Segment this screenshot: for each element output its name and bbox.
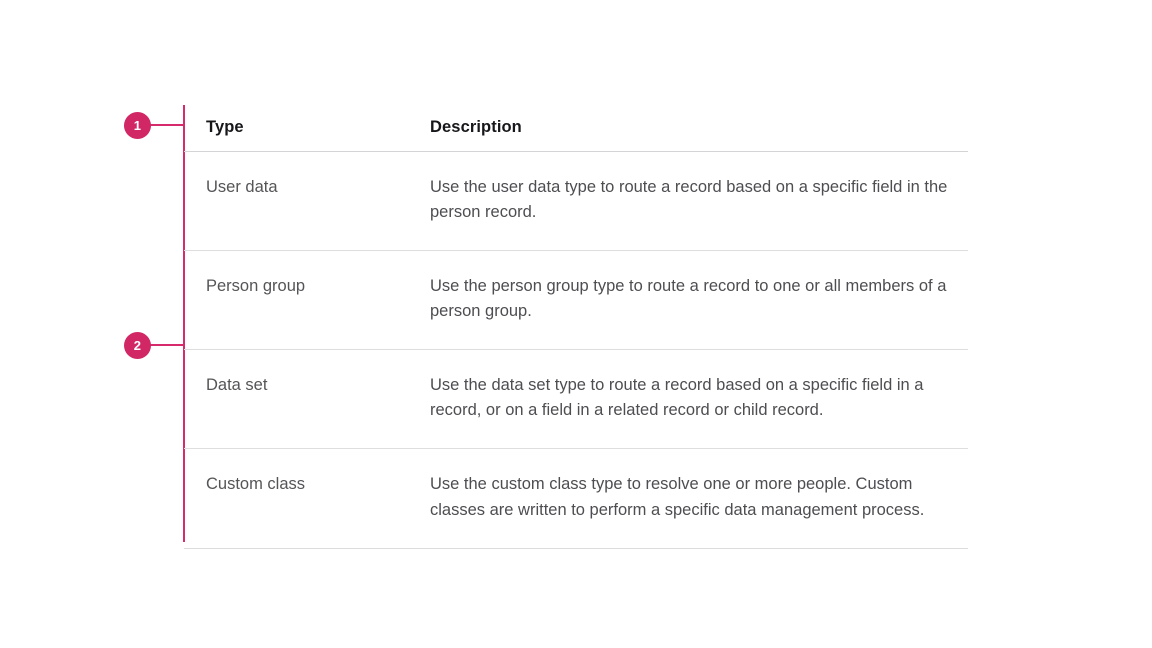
table-row-data-set: Data set Use the data set type to route … <box>184 350 968 449</box>
cell-type: Person group <box>184 251 409 350</box>
cell-type: Data set <box>184 350 409 449</box>
cell-type: User data <box>184 152 409 251</box>
annotation-connector-2 <box>150 344 184 346</box>
cell-description-text: Use the user data type to route a record… <box>430 175 968 225</box>
column-header-description: Description <box>409 105 968 152</box>
column-header-type: Type <box>184 105 409 152</box>
table-header-row: Type Description <box>184 105 968 152</box>
cell-type: Custom class <box>184 449 409 548</box>
annotation-marker-2[interactable]: 2 <box>124 332 151 359</box>
cell-description: Use the custom class type to resolve one… <box>409 449 968 548</box>
cell-description: Use the person group type to route a rec… <box>409 251 968 350</box>
annotation-marker-1[interactable]: 1 <box>124 112 151 139</box>
cell-description-text: Use the person group type to route a rec… <box>430 274 968 324</box>
routing-types-table: Type Description User data Use the user … <box>184 105 968 549</box>
cell-description-text: Use the data set type to route a record … <box>430 373 968 423</box>
cell-description: Use the user data type to route a record… <box>409 152 968 251</box>
table-row: Person group Use the person group type t… <box>184 251 968 350</box>
routing-types-table-container: Type Description User data Use the user … <box>184 105 968 549</box>
table-row: User data Use the user data type to rout… <box>184 152 968 251</box>
cell-description: Use the data set type to route a record … <box>409 350 968 449</box>
annotation-connector-1 <box>150 124 184 126</box>
cell-description-text: Use the custom class type to resolve one… <box>430 472 968 522</box>
table-head: Type Description <box>184 105 968 152</box>
table-body: User data Use the user data type to rout… <box>184 152 968 549</box>
table-row: Custom class Use the custom class type t… <box>184 449 968 548</box>
